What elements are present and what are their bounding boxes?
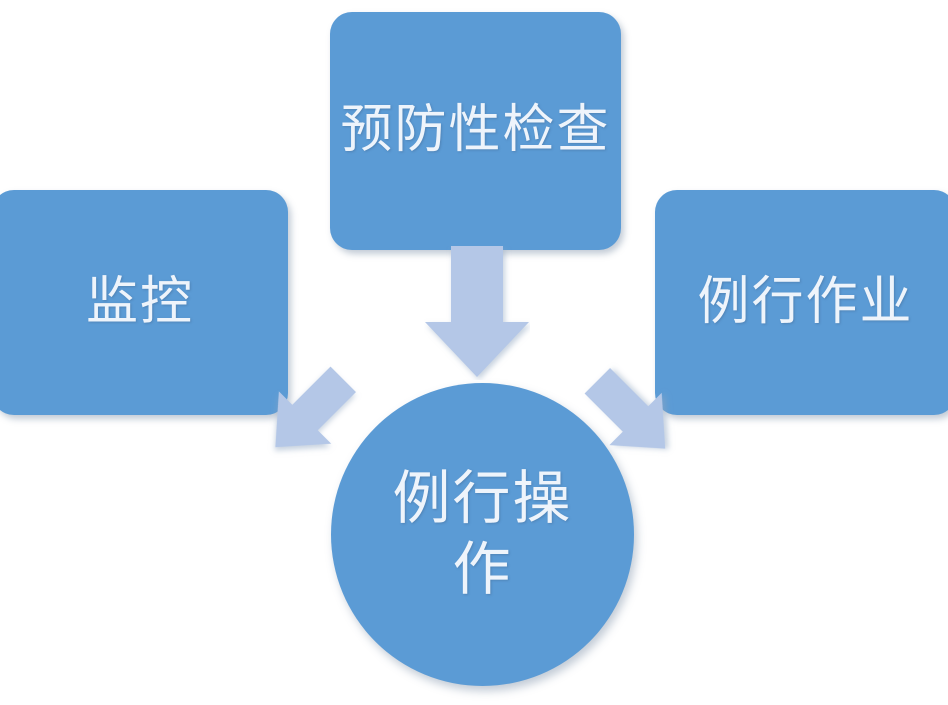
node-monitoring[interactable]: 监控 — [0, 190, 288, 415]
node-preventive-check-label: 预防性检查 — [340, 100, 610, 161]
node-routine-job[interactable]: 例行作业 — [655, 190, 948, 415]
node-routine-job-label: 例行作业 — [697, 272, 913, 333]
node-monitoring-label: 监控 — [86, 272, 194, 333]
node-routine-operation[interactable]: 例行操作 — [331, 383, 634, 686]
node-preventive-check[interactable]: 预防性检查 — [330, 12, 621, 250]
node-routine-operation-label: 例行操作 — [383, 464, 583, 606]
diagram-canvas: 监控 预防性检查 例行作业 例行操作 — [0, 0, 948, 705]
arrow-down-icon — [424, 246, 530, 380]
